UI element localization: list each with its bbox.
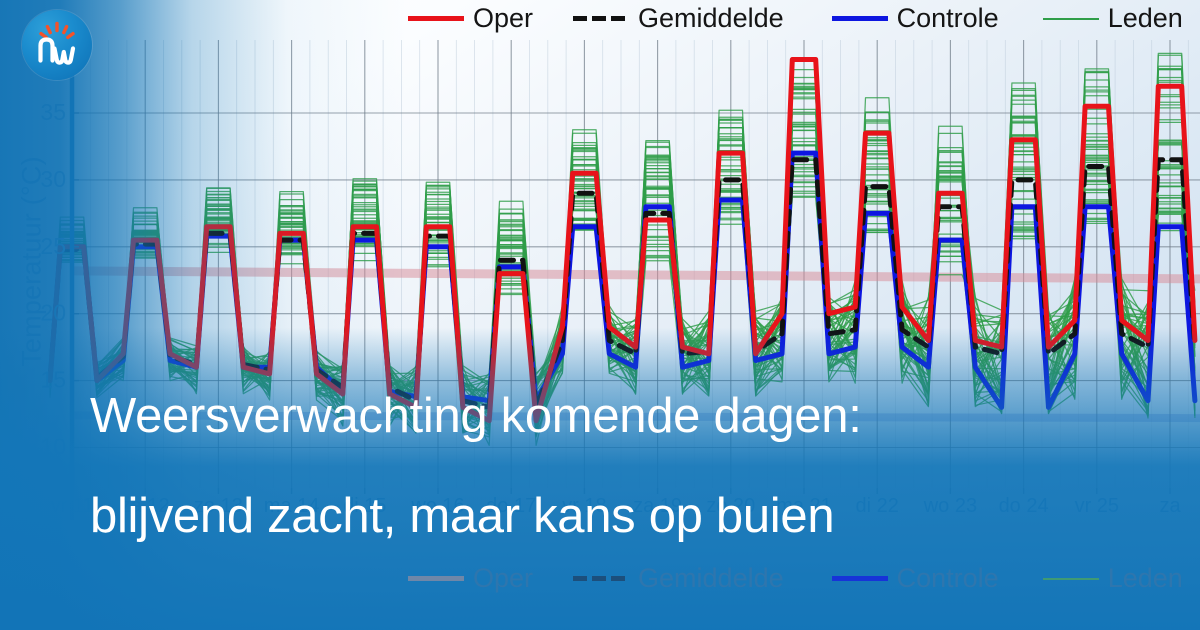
- legend-item-leden[interactable]: Leden: [1043, 563, 1183, 594]
- x-tick-label: wo 16: [411, 495, 464, 518]
- x-tick-label: vr 18: [562, 495, 606, 518]
- x-tick-label: za: [1159, 495, 1180, 518]
- x-tick-label: di 15: [343, 495, 386, 518]
- legend-swatch-controle-icon: [832, 16, 888, 21]
- ensemble-chart: 353025201510 Temperatuur (°C) vr 11za 12…: [0, 0, 1200, 630]
- legend-item-leden[interactable]: Leden: [1043, 3, 1183, 34]
- legend-item-oper[interactable]: Oper: [408, 3, 533, 34]
- x-tick-label: vr 11: [51, 495, 94, 518]
- legend-swatch-leden-icon: [1043, 578, 1099, 580]
- legend-item-oper[interactable]: Oper: [408, 563, 533, 594]
- legend-label-controle: Controle: [888, 3, 999, 34]
- legend-swatch-leden-icon: [1043, 18, 1099, 20]
- x-tick-label: vr 25: [1075, 495, 1119, 518]
- legend-label-gemiddelde: Gemiddelde: [629, 3, 784, 34]
- legend-item-gemiddelde[interactable]: Gemiddelde: [573, 3, 784, 34]
- legend-top: OperGemiddeldeControleLeden: [408, 3, 1183, 34]
- legend-item-controle[interactable]: Controle: [832, 563, 999, 594]
- legend-label-gemiddelde: Gemiddelde: [629, 563, 784, 594]
- x-tick-label: zo 20: [706, 495, 755, 518]
- x-tick-label: wo 23: [924, 495, 977, 518]
- legend-item-controle[interactable]: Controle: [832, 3, 999, 34]
- legend-swatch-oper-icon: [408, 16, 464, 21]
- legend-swatch-oper-icon: [408, 576, 464, 581]
- x-tick-label: do 24: [999, 495, 1049, 518]
- legend-label-oper: Oper: [464, 3, 533, 34]
- legend-swatch-gemiddelde-icon: [573, 16, 629, 21]
- chart-plot-svg: 353025201510: [0, 0, 1200, 630]
- x-tick-label: ma 21: [776, 495, 832, 518]
- legend-swatch-controle-icon: [832, 576, 888, 581]
- legend-label-leden: Leden: [1099, 563, 1183, 594]
- social-card: 353025201510 Temperatuur (°C) vr 11za 12…: [0, 0, 1200, 630]
- x-axis-tick-labels: vr 11za 12zo 13ma 14di 15wo 16do 17vr 18…: [0, 495, 1200, 519]
- y-axis-title: Temperatuur (°C): [17, 62, 48, 462]
- legend-label-controle: Controle: [888, 563, 999, 594]
- x-tick-label: di 22: [856, 495, 899, 518]
- x-tick-label: zo 13: [194, 495, 243, 518]
- x-tick-label: ma 14: [264, 495, 320, 518]
- legend-label-oper: Oper: [464, 563, 533, 594]
- legend-swatch-gemiddelde-icon: [573, 576, 629, 581]
- x-tick-label: do 17: [486, 495, 536, 518]
- legend-item-gemiddelde[interactable]: Gemiddelde: [573, 563, 784, 594]
- x-tick-label: za 19: [633, 495, 682, 518]
- legend-bottom: OperGemiddeldeControleLeden: [408, 563, 1183, 594]
- x-tick-label: za 12: [121, 495, 170, 518]
- weer-nl-logo-icon[interactable]: [22, 10, 92, 80]
- legend-label-leden: Leden: [1099, 3, 1183, 34]
